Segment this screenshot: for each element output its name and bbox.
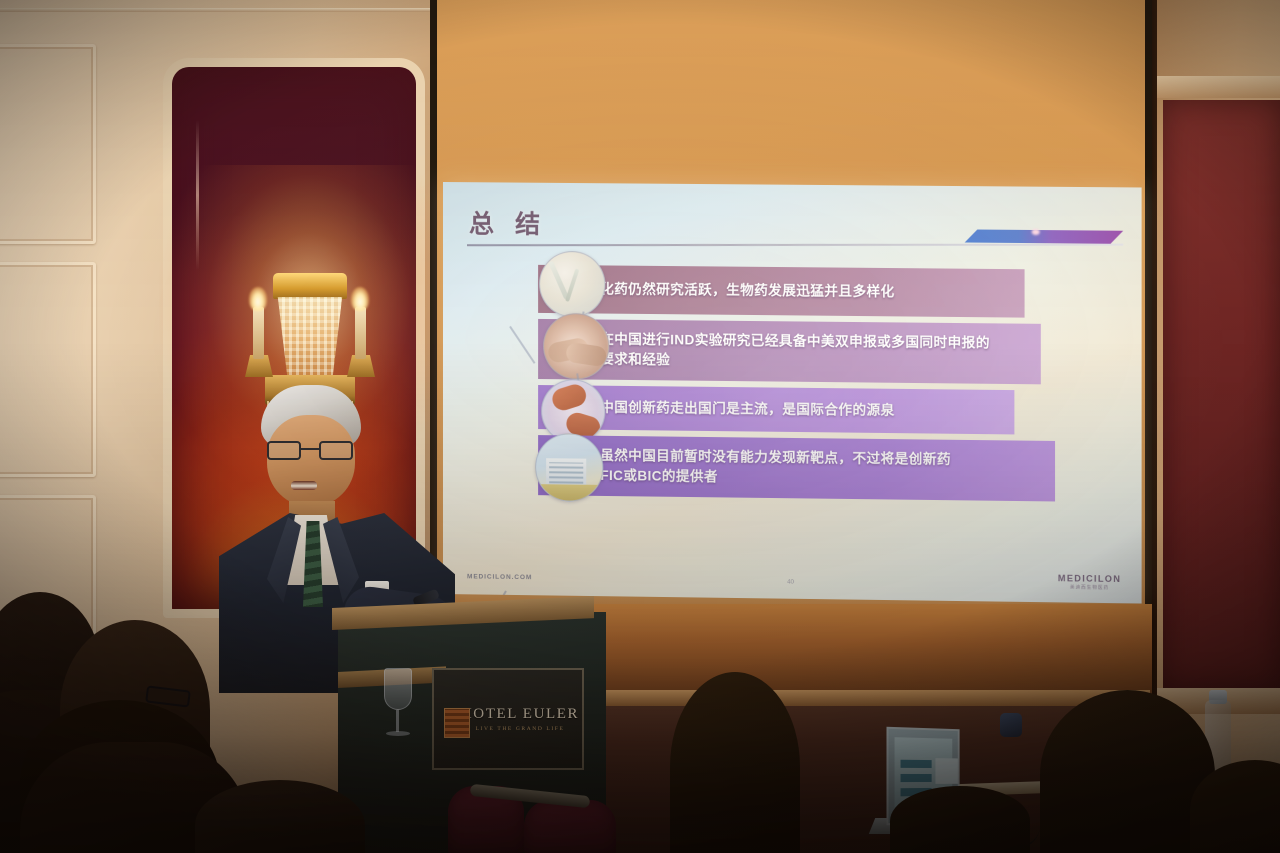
microphone-puck — [1000, 713, 1022, 737]
pipette-shape — [548, 261, 569, 300]
handshake-icon — [543, 313, 609, 380]
projected-slide: 总 结 化药仍然研究活跃，生物药发展迅猛并且多样化 在中国进行IND实验研究已经… — [443, 182, 1142, 604]
wall-panel-molding — [0, 44, 96, 244]
candle — [253, 307, 264, 359]
summary-bar-4-text: 虽然中国目前暂时没有能力发现新靶点，不过将是创新药 FIC或BIC的提供者 — [600, 446, 951, 489]
hand-shape — [565, 342, 608, 368]
logo-wordmark: MEDICILON — [1058, 573, 1121, 584]
capsule-shape — [550, 382, 589, 413]
summary-bar-1: 化药仍然研究活跃，生物药发展迅猛并且多样化 — [538, 265, 1024, 318]
hotel-crest-icon — [444, 708, 470, 738]
audience-head — [670, 672, 800, 853]
summary-bars-group: 化药仍然研究活跃，生物药发展迅猛并且多样化 在中国进行IND实验研究已经具备中美… — [443, 260, 1142, 266]
audience-head — [1040, 690, 1215, 853]
hotel-name: HOTEL EULER — [461, 706, 579, 723]
glasses-bridge — [301, 448, 319, 450]
summary-bar-2-text: 在中国进行IND实验研究已经具备中美双申报或多国同时申报的 要求和经验 — [600, 330, 990, 373]
right-wall-burgundy-panel — [1163, 100, 1280, 688]
summary-bar-4-line2: FIC或BIC的提供者 — [600, 468, 718, 484]
connector-line — [509, 326, 535, 364]
wine-glass — [382, 668, 414, 740]
summary-bar-4: 虽然中国目前暂时没有能力发现新靶点，不过将是创新药 FIC或BIC的提供者 — [538, 435, 1055, 501]
audience-head — [890, 786, 1030, 853]
wall-panel-molding — [0, 262, 96, 477]
candle-flame — [351, 287, 369, 311]
title-underline-rule — [467, 244, 1123, 247]
glass-foot — [386, 731, 410, 736]
laptop-slide-bar — [901, 760, 932, 768]
summary-bar-2-line2: 要求和经验 — [600, 352, 670, 368]
summary-bar-3-text: 中国创新药走出国门是主流，是国际合作的源泉 — [600, 398, 894, 421]
slide-footer-url: MEDICILON.COM — [467, 573, 532, 581]
summary-bar-3: 中国创新药走出国门是主流，是国际合作的源泉 — [538, 385, 1014, 434]
sconce-crown-ornament — [273, 273, 347, 299]
summary-bar-2-line1: 在中国进行IND实验研究已经具备中美双申报或多国同时申报的 — [600, 332, 990, 351]
logo-subtext: 美迪西生物医药 — [1058, 584, 1121, 591]
accent-highlight-dot — [1032, 229, 1040, 235]
summary-bar-2: 在中国进行IND实验研究已经具备中美双申报或多国同时申报的 要求和经验 — [538, 319, 1041, 384]
summary-bar-4-line1: 虽然中国目前暂时没有能力发现新靶点，不过将是创新药 — [600, 448, 951, 467]
conference-photo-scene: 总 结 化药仍然研究活跃，生物药发展迅猛并且多样化 在中国进行IND实验研究已经… — [0, 0, 1280, 853]
candle — [355, 307, 366, 359]
audience-chair — [524, 800, 616, 853]
glass-stem — [396, 710, 399, 732]
slide-page-number: 40 — [787, 580, 794, 586]
building-foreground — [536, 484, 603, 502]
lab-pipette-icon — [539, 251, 605, 318]
right-wall-molding-top — [1155, 76, 1280, 98]
wall-cornice — [0, 8, 442, 12]
hotel-euler-sign: HOTEL EULER LIVE THE GRAND LIFE — [432, 668, 584, 770]
speaker-mouth — [291, 481, 317, 490]
pipette-shape — [565, 268, 579, 302]
laptop-slide-image — [935, 758, 957, 784]
laptop-slide-bar — [901, 774, 932, 782]
building-icon — [535, 433, 603, 502]
medicilon-logo: MEDICILON 美迪西生物医药 — [1058, 573, 1121, 591]
glass-bowl — [384, 668, 412, 710]
glasses-lens — [267, 441, 301, 460]
speaker-glasses-icon — [265, 441, 357, 461]
slide-title: 总 结 — [469, 204, 547, 241]
summary-bar-1-text: 化药仍然研究活跃，生物药发展迅猛并且多样化 — [600, 280, 894, 302]
title-accent-parallelogram — [965, 229, 1124, 243]
glasses-lens — [319, 441, 353, 460]
hotel-tagline: LIVE THE GRAND LIFE — [476, 726, 565, 732]
candle-flame — [249, 287, 267, 311]
speaker-face — [267, 415, 355, 507]
